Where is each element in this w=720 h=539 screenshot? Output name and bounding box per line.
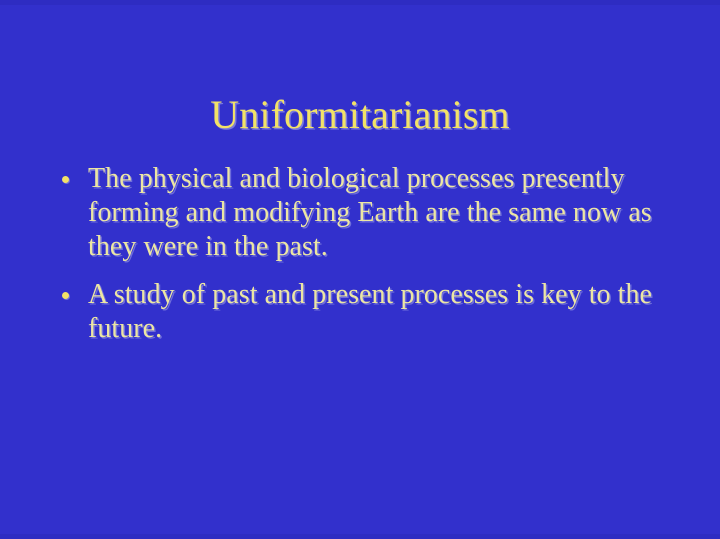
bullet-item: The physical and biological processes pr… [58, 162, 670, 264]
bullet-item: A study of past and present processes is… [58, 278, 670, 346]
presentation-slide: Uniformitarianism The physical and biolo… [0, 0, 720, 539]
slide-body: The physical and biological processes pr… [58, 162, 670, 346]
bullet-text: A study of past and present processes is… [88, 278, 670, 346]
slide-top-edge-band [0, 0, 720, 5]
slide-bottom-edge-band [0, 534, 720, 539]
bullet-dot-icon [58, 162, 88, 196]
bullet-dot-icon [58, 278, 88, 312]
slide-title: Uniformitarianism [0, 93, 720, 136]
bullet-text: The physical and biological processes pr… [88, 162, 670, 264]
